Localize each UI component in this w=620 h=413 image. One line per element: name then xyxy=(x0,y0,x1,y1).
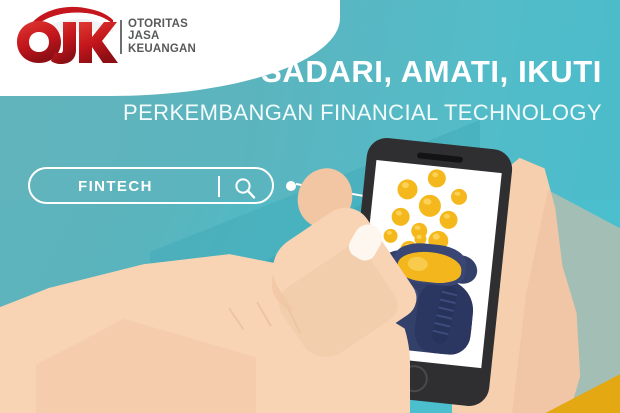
gold-coin xyxy=(383,228,398,243)
ojk-wordmark-icon xyxy=(16,20,118,64)
logo-name-line-1: OTORITAS xyxy=(128,18,196,30)
gold-coin xyxy=(397,178,419,200)
search-input[interactable]: FINTECH xyxy=(78,178,153,195)
gold-coin xyxy=(427,169,447,189)
connector-dot xyxy=(286,181,296,191)
magnifier-icon[interactable] xyxy=(234,177,256,199)
search-divider xyxy=(218,176,220,197)
headline-subtitle: PERKEMBANGAN FINANCIAL TECHNOLOGY xyxy=(123,100,602,126)
falling-gold-coins xyxy=(376,160,501,173)
logo-divider xyxy=(120,20,122,54)
logo-name-line-3: KEUANGAN xyxy=(128,43,196,55)
search-bar[interactable]: FINTECH xyxy=(28,167,274,204)
gold-coin xyxy=(418,194,442,218)
logo-institution-name: OTORITAS JASA KEUANGAN xyxy=(128,18,196,55)
logo-name-line-2: JASA xyxy=(128,30,196,42)
headline-title: SADARI, AMATI, IKUTI xyxy=(261,54,602,90)
earpiece-speaker-icon xyxy=(417,152,463,163)
gold-coin xyxy=(391,207,411,227)
ojk-logo: OTORITAS JASA KEUANGAN xyxy=(16,6,214,62)
gold-coin xyxy=(439,210,459,230)
gold-coin xyxy=(450,188,468,206)
fintech-awareness-poster: OTORITAS JASA KEUANGAN SADARI, AMATI, IK… xyxy=(0,0,620,413)
